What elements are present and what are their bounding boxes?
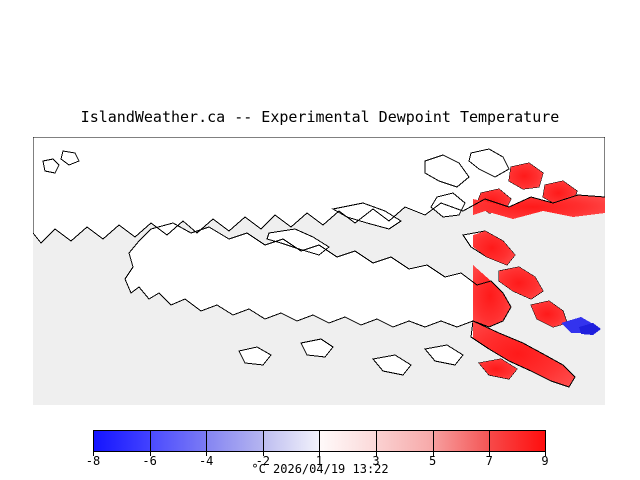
colorbar-segment: [376, 430, 433, 452]
colorbar-divider: [206, 430, 207, 452]
page-title: IslandWeather.ca -- Experimental Dewpoin…: [0, 108, 640, 126]
colorbar-divider: [319, 430, 320, 452]
colorbar-segment: [150, 430, 207, 452]
map-panel[interactable]: [33, 137, 605, 405]
colorbar-divider: [263, 430, 264, 452]
colorbar-segment: [489, 430, 546, 452]
colorbar[interactable]: [93, 430, 546, 452]
colorbar-divider: [489, 430, 490, 452]
colorbar-divider: [150, 430, 151, 452]
map-svg: [33, 137, 605, 405]
colorbar-caption: °C 2026/04/19 13:22: [0, 462, 640, 476]
colorbar-segment: [319, 430, 376, 452]
colorbar-segment: [263, 430, 320, 452]
weather-map-figure: IslandWeather.ca -- Experimental Dewpoin…: [0, 0, 640, 480]
colorbar-segment: [93, 430, 150, 452]
colorbar-segment: [206, 430, 263, 452]
colorbar-divider: [433, 430, 434, 452]
colorbar-segment: [433, 430, 490, 452]
colorbar-divider: [376, 430, 377, 452]
